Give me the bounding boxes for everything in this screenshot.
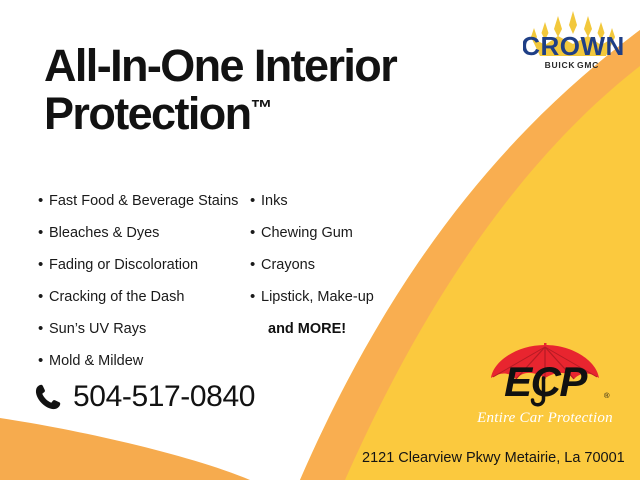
- benefit-label: Inks: [261, 185, 440, 217]
- benefit-label: Cracking of the Dash: [49, 281, 253, 313]
- bullet-icon: •: [250, 249, 261, 281]
- benefit-item: • Chewing Gum: [250, 217, 440, 249]
- ecp-logo: ECP ® Entire Car Protection: [460, 336, 630, 431]
- benefit-label: Mold & Mildew: [49, 345, 253, 377]
- trademark-symbol: ™: [251, 95, 273, 120]
- ecp-monogram: ECP: [504, 358, 588, 405]
- benefit-item: • Crayons: [250, 249, 440, 281]
- registered-mark: ®: [604, 391, 610, 400]
- benefit-label: Fading or Discoloration: [49, 249, 253, 281]
- benefits-left-column: • Fast Food & Beverage Stains • Bleaches…: [38, 185, 253, 377]
- and-more-label: and MORE!: [250, 313, 440, 345]
- benefits-right-column: • Inks • Chewing Gum • Crayons • Lipstic…: [250, 185, 440, 345]
- orange-corner-wedge: [0, 418, 250, 480]
- benefit-item: • Bleaches & Dyes: [38, 217, 253, 249]
- benefit-item: • Lipstick, Make-up: [250, 281, 440, 313]
- advertisement-flyer: CROWN BUICK GMC All-In-One Interior Prot…: [0, 0, 640, 480]
- dealer-address: 2121 Clearview Pkwy Metairie, La 70001: [362, 450, 625, 466]
- bullet-icon: •: [38, 313, 49, 345]
- crown-wordmark: CROWN: [523, 31, 623, 61]
- benefit-item: • Fast Food & Beverage Stains: [38, 185, 253, 217]
- crown-buick-gmc-logo: CROWN BUICK GMC: [523, 8, 623, 74]
- bullet-icon: •: [38, 249, 49, 281]
- headline-line-2: Protection: [44, 88, 251, 139]
- benefit-item: • Fading or Discoloration: [38, 249, 253, 281]
- benefit-label: Crayons: [261, 249, 440, 281]
- bullet-icon: •: [250, 281, 261, 313]
- buick-wordmark: BUICK: [545, 60, 576, 70]
- benefit-item: • Mold & Mildew: [38, 345, 253, 377]
- bullet-icon: •: [250, 217, 261, 249]
- bullet-icon: •: [38, 345, 49, 377]
- headline: All-In-One Interior Protection™: [44, 42, 514, 138]
- benefit-label: Sun’s UV Rays: [49, 313, 253, 345]
- ecp-tagline: Entire Car Protection: [476, 410, 613, 426]
- benefit-item: • Sun’s UV Rays: [38, 313, 253, 345]
- headline-line-1: All-In-One Interior: [44, 40, 396, 91]
- benefit-label: Bleaches & Dyes: [49, 217, 253, 249]
- bullet-icon: •: [38, 217, 49, 249]
- bullet-icon: •: [38, 185, 49, 217]
- phone-handset-icon: [33, 382, 63, 412]
- phone-contact[interactable]: 504-517-0840: [33, 380, 255, 414]
- phone-number: 504-517-0840: [73, 380, 255, 414]
- benefit-item: • Cracking of the Dash: [38, 281, 253, 313]
- benefit-item: • Inks: [250, 185, 440, 217]
- bullet-icon: •: [38, 281, 49, 313]
- benefit-label: Chewing Gum: [261, 217, 440, 249]
- gmc-wordmark: GMC: [577, 60, 599, 70]
- benefit-label: Lipstick, Make-up: [261, 281, 440, 313]
- bullet-icon: •: [250, 185, 261, 217]
- benefit-label: Fast Food & Beverage Stains: [49, 185, 253, 217]
